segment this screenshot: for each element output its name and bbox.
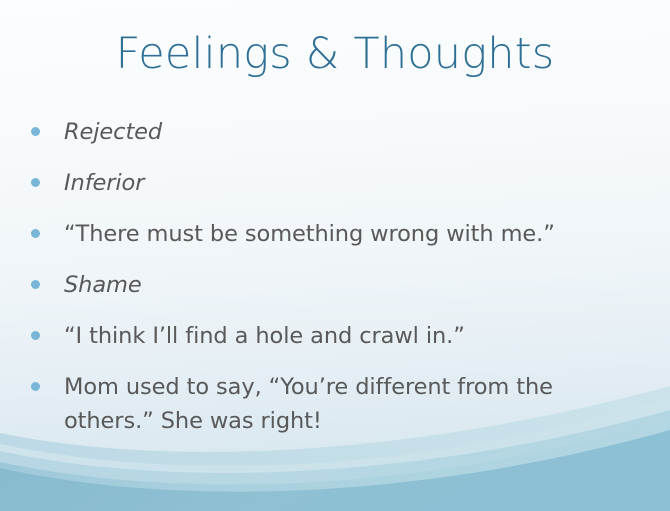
bullet-text: Rejected [64,115,645,149]
bullet-dot-icon [31,217,64,238]
bullet-dot-icon [31,370,64,391]
bullet-dot-icon [31,268,64,289]
slide-bullet-list: Rejected Inferior “There must be somethi… [31,115,645,455]
bullet-text: Mom used to say, “You’re different from … [64,370,645,438]
list-item: “I think I’ll find a hole and crawl in.” [31,319,645,353]
list-item: Shame [31,268,645,302]
bullet-dot-icon [31,319,64,340]
presentation-slide: Feelings & Thoughts Rejected Inferior “T… [0,0,670,511]
bullet-text: “There must be something wrong with me.” [64,217,645,251]
list-item: Inferior [31,166,645,200]
bullet-dot-icon [31,166,64,187]
bullet-text: Shame [64,268,645,302]
list-item: Mom used to say, “You’re different from … [31,370,645,438]
bullet-text: Inferior [64,166,645,200]
bullet-dot-icon [31,115,64,136]
slide-title: Feelings & Thoughts [0,28,670,80]
list-item: Rejected [31,115,645,149]
bullet-text: “I think I’ll find a hole and crawl in.” [64,319,645,353]
list-item: “There must be something wrong with me.” [31,217,645,251]
